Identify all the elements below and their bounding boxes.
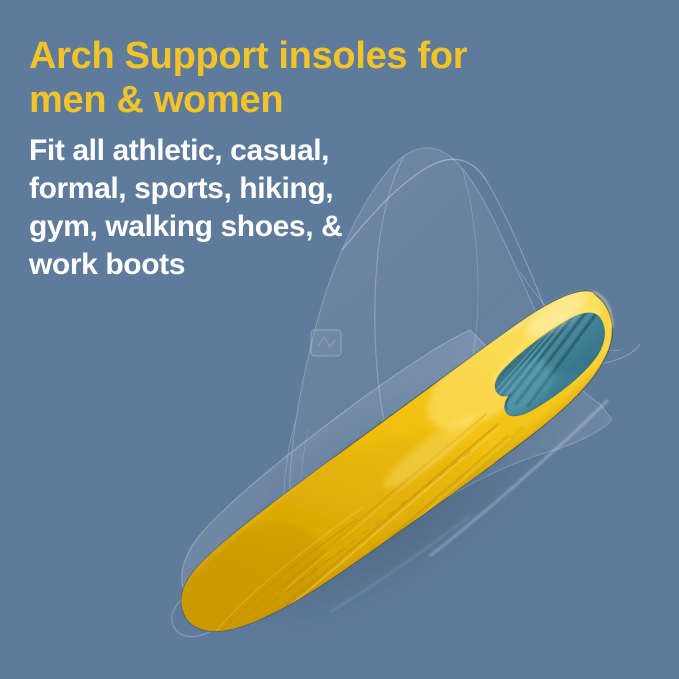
product-marketing-image: Arch Support insoles for men & women Fit… bbox=[0, 0, 679, 679]
product-description: Fit all athletic, casual, formal, sports… bbox=[29, 132, 549, 284]
page-title: Arch Support insoles for men & women bbox=[29, 34, 549, 122]
copy-block: Arch Support insoles for men & women Fit… bbox=[29, 34, 549, 284]
shoe-logo-patch bbox=[311, 330, 341, 356]
